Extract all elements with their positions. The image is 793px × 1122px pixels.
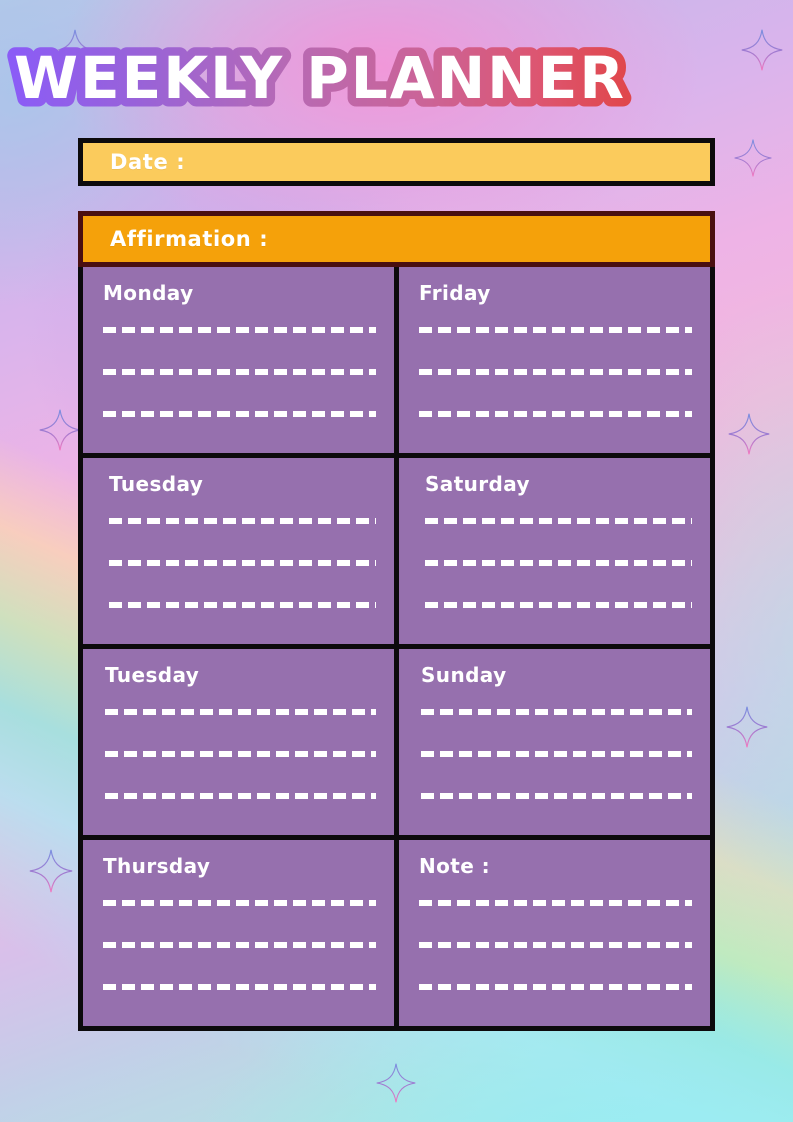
day-cell-label-friday: Friday bbox=[419, 281, 692, 305]
day-cell-lines-tuesday-2 bbox=[105, 691, 376, 823]
write-line[interactable] bbox=[103, 942, 376, 948]
write-line[interactable] bbox=[105, 793, 376, 799]
write-line[interactable] bbox=[425, 602, 692, 608]
sparkle-left-mid-icon bbox=[38, 408, 82, 452]
day-cell-saturday[interactable]: Saturday bbox=[399, 458, 710, 644]
day-cell-label-sunday: Sunday bbox=[421, 663, 692, 687]
write-line[interactable] bbox=[421, 793, 692, 799]
day-cell-label-tuesday: Tuesday bbox=[109, 472, 376, 496]
sparkle-bottom-center-icon bbox=[375, 1062, 417, 1104]
write-line[interactable] bbox=[103, 369, 376, 375]
sparkle-left-lower-icon bbox=[28, 848, 74, 894]
day-cell-label-note: Note : bbox=[419, 854, 692, 878]
write-line[interactable] bbox=[109, 518, 376, 524]
svg-text:WEEKLY PLANNER: WEEKLY PLANNER bbox=[14, 44, 626, 112]
affirmation-label: Affirmation : bbox=[110, 227, 268, 251]
write-line[interactable] bbox=[419, 369, 692, 375]
day-cell-lines-friday bbox=[419, 309, 692, 441]
day-cell-lines-sunday bbox=[421, 691, 692, 823]
page-title: WEEKLY PLANNER WEEKLY PLANNER bbox=[0, 36, 793, 122]
planner-page: WEEKLY PLANNER WEEKLY PLANNER Date : Aff… bbox=[0, 0, 793, 1122]
write-line[interactable] bbox=[109, 560, 376, 566]
write-line[interactable] bbox=[421, 709, 692, 715]
write-line[interactable] bbox=[425, 560, 692, 566]
day-cell-lines-thursday bbox=[103, 882, 376, 1014]
day-cell-tuesday-2[interactable]: Tuesday bbox=[83, 649, 394, 835]
day-cell-lines-note bbox=[419, 882, 692, 1014]
write-line[interactable] bbox=[105, 751, 376, 757]
write-line[interactable] bbox=[419, 900, 692, 906]
write-line[interactable] bbox=[103, 411, 376, 417]
day-cell-friday[interactable]: Friday bbox=[399, 267, 710, 453]
date-bar[interactable]: Date : bbox=[78, 138, 715, 186]
write-line[interactable] bbox=[419, 942, 692, 948]
day-cell-lines-tuesday bbox=[109, 500, 376, 632]
day-cell-label-saturday: Saturday bbox=[425, 472, 692, 496]
day-cell-tuesday[interactable]: Tuesday bbox=[83, 458, 394, 644]
sparkle-right-mid-icon bbox=[727, 412, 771, 456]
date-label: Date : bbox=[110, 150, 185, 174]
planner-sheet: Date : Affirmation : MondayFridayTuesday… bbox=[78, 138, 715, 1031]
write-line[interactable] bbox=[103, 327, 376, 333]
page-title-svg: WEEKLY PLANNER WEEKLY PLANNER bbox=[0, 36, 640, 122]
write-line[interactable] bbox=[419, 984, 692, 990]
day-cell-sunday[interactable]: Sunday bbox=[399, 649, 710, 835]
day-cell-lines-saturday bbox=[425, 500, 692, 632]
day-cell-label-tuesday-2: Tuesday bbox=[105, 663, 376, 687]
day-cell-thursday[interactable]: Thursday bbox=[83, 840, 394, 1026]
write-line[interactable] bbox=[103, 900, 376, 906]
sparkle-right-lower-icon bbox=[725, 705, 769, 749]
affirmation-bar[interactable]: Affirmation : bbox=[78, 211, 715, 267]
day-cell-label-monday: Monday bbox=[103, 281, 376, 305]
day-grid: MondayFridayTuesdaySaturdayTuesdaySunday… bbox=[78, 267, 715, 1031]
day-cell-monday[interactable]: Monday bbox=[83, 267, 394, 453]
day-cell-label-thursday: Thursday bbox=[103, 854, 376, 878]
write-line[interactable] bbox=[425, 518, 692, 524]
write-line[interactable] bbox=[419, 411, 692, 417]
write-line[interactable] bbox=[421, 751, 692, 757]
write-line[interactable] bbox=[105, 709, 376, 715]
write-line[interactable] bbox=[109, 602, 376, 608]
write-line[interactable] bbox=[103, 984, 376, 990]
write-line[interactable] bbox=[419, 327, 692, 333]
day-cell-lines-monday bbox=[103, 309, 376, 441]
day-cell-note[interactable]: Note : bbox=[399, 840, 710, 1026]
sparkle-right-upper-icon bbox=[733, 138, 773, 178]
